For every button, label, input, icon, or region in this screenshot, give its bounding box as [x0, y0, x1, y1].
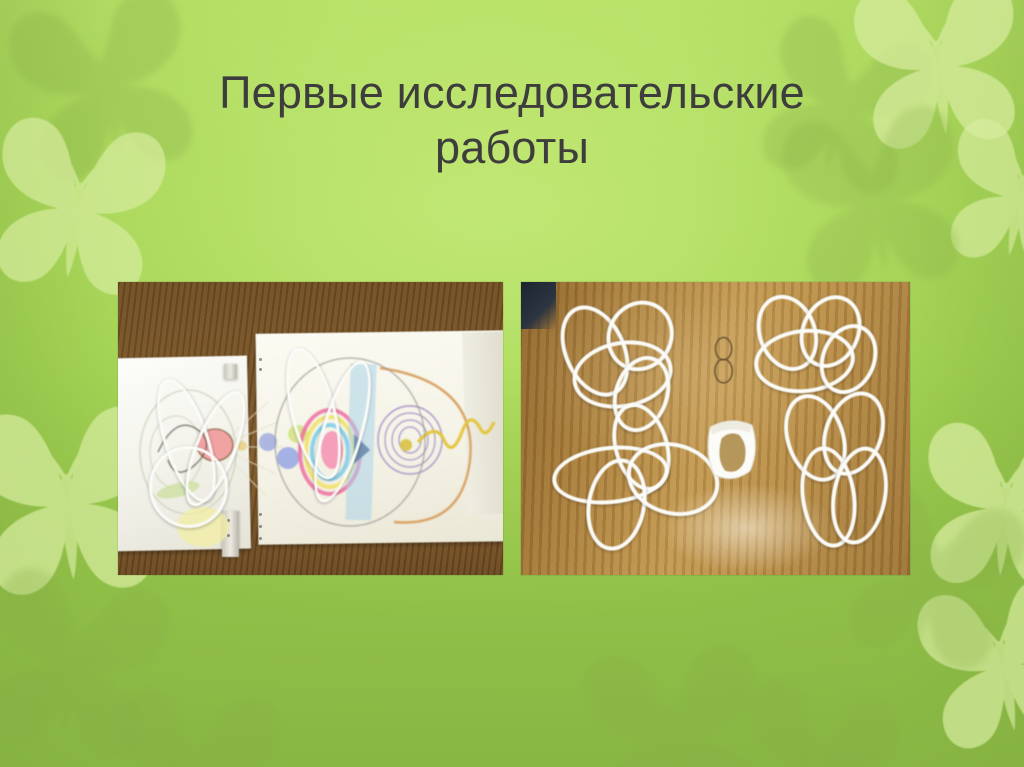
- photo-notebook-drawings[interactable]: [118, 282, 503, 575]
- butterfly-icon: [76, 665, 310, 767]
- presentation-slide: Первые исследовательские работы: [0, 0, 1024, 767]
- slide-title: Первые исследовательские работы: [96, 66, 928, 176]
- small-dark-loop-figure-eight: [708, 335, 739, 385]
- paper-cylinder-ring: [700, 408, 762, 484]
- butterfly-icon: [695, 653, 934, 767]
- photo-paper-mobius-strips[interactable]: [521, 282, 910, 575]
